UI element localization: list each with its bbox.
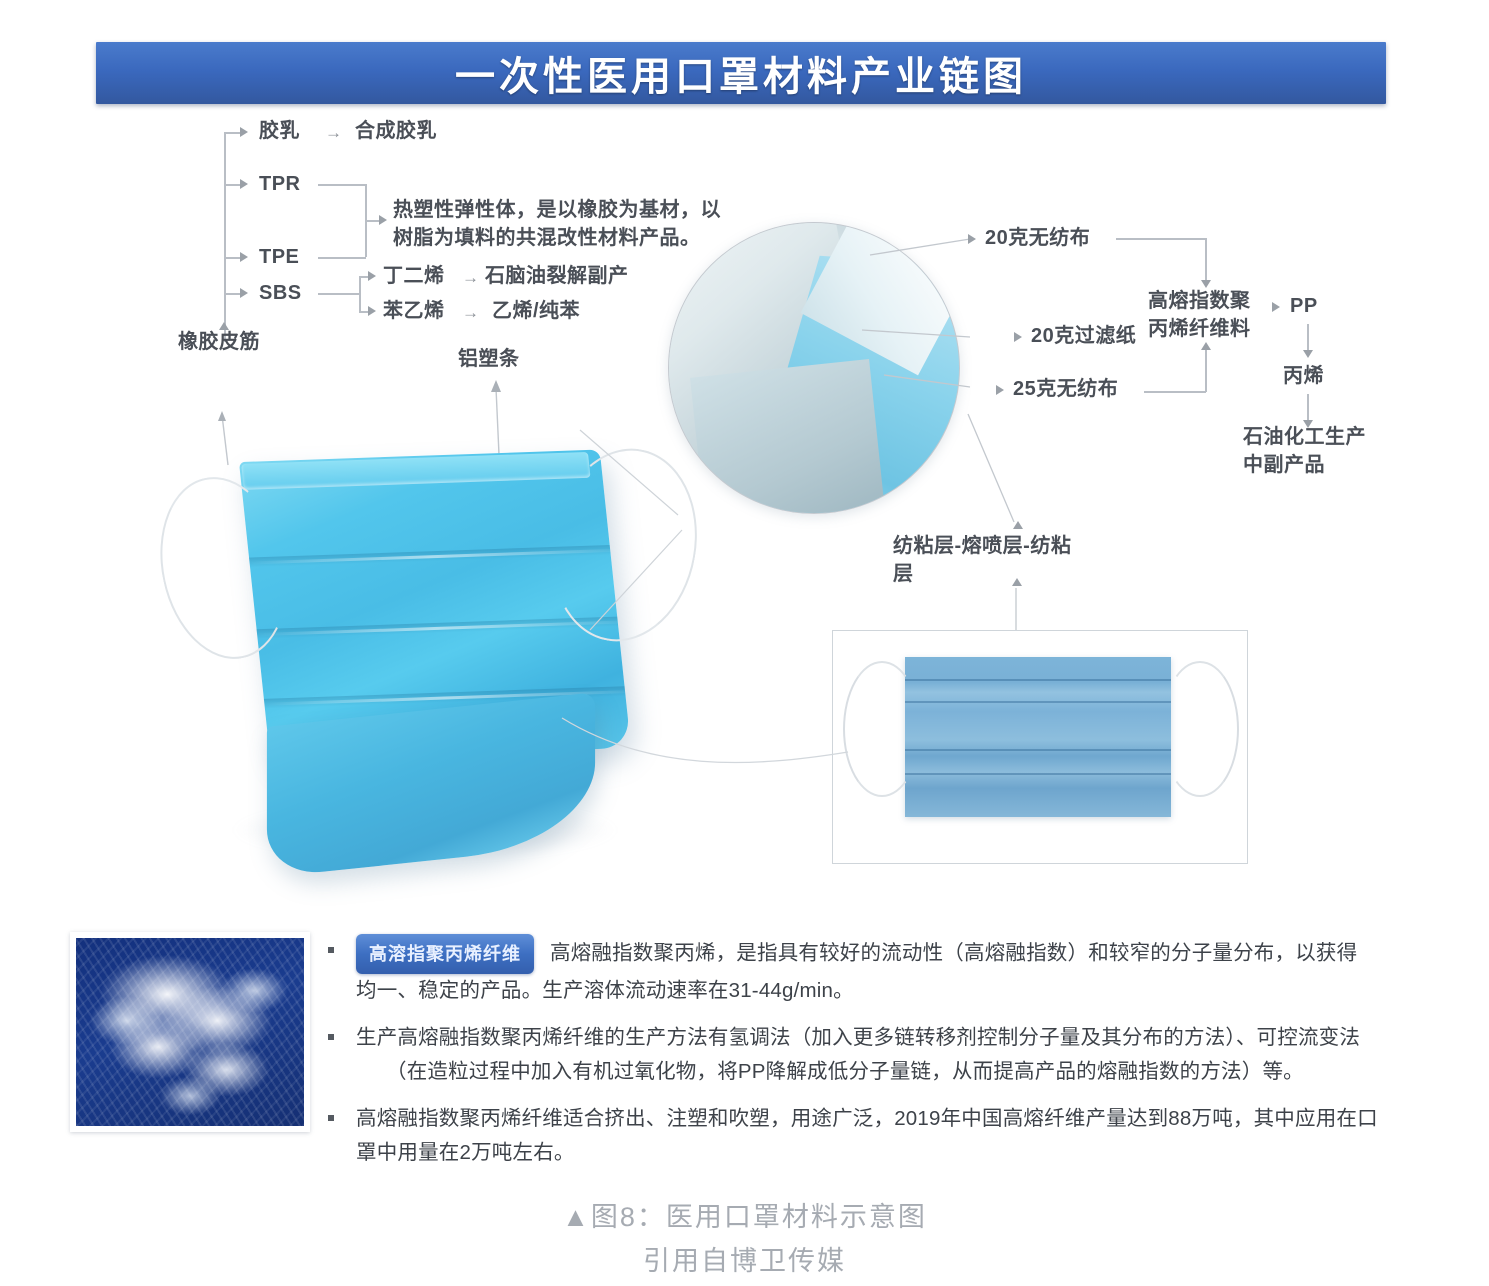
node-jiaoru: 胶乳: [259, 119, 300, 145]
arrow-to-butadiene-icon: [368, 271, 376, 281]
arrow-to-sbs-icon: [240, 288, 248, 298]
label-rubber-band: 橡胶皮筋: [178, 330, 260, 356]
bullet-text-1: 高溶指聚丙烯纤维高熔融指数聚丙烯，是指具有较好的流动性（高熔融指数）和较窄的分子…: [356, 934, 1398, 1009]
node-synthetic-latex: 合成胶乳: [355, 119, 437, 145]
flat-mask-body: [905, 657, 1171, 817]
page-title-banner: 一次性医用口罩材料产业链图: [96, 42, 1386, 104]
flat-mask-pleat-1: [905, 679, 1171, 681]
bullet-3-line-1: 高熔融指数聚丙烯纤维适合挤出、注塑和吹塑，用途广泛，2019年中国高熔纤维产量达…: [356, 1107, 1378, 1130]
page-title: 一次性医用口罩材料产业链图: [455, 44, 1027, 102]
arrow-root-up-icon: [219, 322, 229, 330]
infographic-page: 一次性医用口罩材料产业链图 胶乳 → 合成胶乳 TPR TPE SBS 热塑性弹…: [0, 0, 1489, 1286]
bullet-2-line-2: （在造粒过程中加入有机过氧化物，将PP降解成低分子量链，从而提高产品的熔融指数的…: [356, 1055, 1398, 1089]
bullet-text-2: 生产高熔融指数聚丙烯纤维的生产方法有氢调法（加入更多链转移剂控制分子量及其分布的…: [356, 1021, 1398, 1090]
node-high-melt-fiber-material: 高熔指数聚 丙烯纤维料: [1148, 288, 1251, 343]
fiber-photo: [70, 932, 310, 1132]
arrow-layer-label-up2-icon: [1012, 578, 1022, 586]
node-petrochemical-byproduct: 石油化工生产 中副产品: [1243, 424, 1366, 479]
layer1-merge-h: [1116, 238, 1206, 240]
list-item: 生产高熔融指数聚丙烯纤维的生产方法有氢调法（加入更多链转移剂控制分子量及其分布的…: [328, 1021, 1398, 1090]
list-item: 高熔融指数聚丙烯纤维适合挤出、注塑和吹塑，用途广泛，2019年中国高熔纤维产量达…: [328, 1102, 1398, 1171]
right-branch-leaders: [860, 225, 1020, 405]
node-butadiene: 丁二烯: [383, 264, 445, 290]
node-tpe: TPE: [259, 245, 299, 271]
status-badge: 高溶指聚丙烯纤维: [356, 934, 534, 974]
label-nose-strip: 铝塑条: [458, 347, 520, 373]
arrow-to-tpr-icon: [240, 179, 248, 189]
sbs-bracket-v: [359, 276, 361, 312]
bullet-1-line-2: 均一、稳定的产品。生产溶体流动速率在31-44g/min。: [356, 974, 1398, 1008]
sbs-bracket-h: [318, 293, 360, 295]
arrow-to-layer2-icon: [1014, 332, 1022, 342]
tpr-tpe-merge-h: [365, 220, 380, 222]
node-layer-20g-nonwoven: 20克无纺布: [985, 226, 1090, 252]
arrow-butadiene-to-naphtha-icon: →: [462, 268, 479, 288]
layer3-merge-h: [1144, 391, 1206, 393]
arrow-styrene-to-ethylene-icon: →: [462, 303, 479, 323]
flat-mask-ear-loop-left: [843, 661, 921, 797]
tpr-bracket-h: [318, 184, 366, 186]
list-item: 高溶指聚丙烯纤维高熔融指数聚丙烯，是指具有较好的流动性（高熔融指数）和较窄的分子…: [328, 934, 1398, 1009]
arrow-pp-down-icon: [1303, 350, 1313, 358]
magnifier-tether: [560, 380, 820, 680]
node-naphtha-byproduct: 石脑油裂解副产: [485, 264, 629, 290]
arrow-merge-up-icon: [1201, 342, 1211, 350]
node-styrene: 苯乙烯: [383, 299, 445, 325]
tpe-bracket-h: [318, 257, 366, 259]
flat-mask-inset: [832, 630, 1248, 864]
arrow-jiaoru-to-synth-icon: →: [325, 123, 342, 143]
arrow-to-styrene-icon: [368, 306, 376, 316]
bullet-marker-icon: [328, 947, 334, 953]
flat-mask-pleat-4: [905, 773, 1171, 775]
flat-mask-ear-loop-right: [1161, 661, 1239, 797]
bullet-list: 高溶指聚丙烯纤维高熔融指数聚丙烯，是指具有较好的流动性（高熔融指数）和较窄的分子…: [328, 934, 1398, 1182]
node-layer-25g-nonwoven: 25克无纺布: [1013, 377, 1118, 403]
caption-line-1: ▲图8：医用口罩材料示意图: [0, 1196, 1489, 1240]
node-layer-20g-filter: 20克过滤纸: [1031, 324, 1136, 350]
node-sbs: SBS: [259, 281, 302, 307]
mask-nose-strip: [241, 452, 590, 490]
arrow-to-pp-icon: [1272, 302, 1280, 312]
bullet-3-line-2: 罩中用量在2万吨左右。: [356, 1136, 1398, 1170]
arrow-to-layer3-icon: [996, 385, 1004, 395]
node-ethylene-benzene: 乙烯/纯苯: [492, 299, 580, 325]
node-tpr: TPR: [259, 172, 301, 198]
leader-flatmask-to-mask: [560, 700, 850, 780]
leader-layer-label-to-circle: [960, 408, 1100, 528]
figure-caption: ▲图8：医用口罩材料示意图 引用自博卫传媒: [0, 1196, 1489, 1283]
label-spunbond-meltblown-spunbond: 纺粘层-熔喷层-纺粘 层: [893, 532, 1071, 588]
bullet-1-line-1: 高熔融指数聚丙烯，是指具有较好的流动性（高熔融指数）和较窄的分子量分布，以获得: [550, 942, 1357, 965]
arrow-merge-down-icon: [1201, 280, 1211, 288]
layer1-merge-v: [1205, 238, 1207, 282]
caption-line-2: 引用自博卫传媒: [0, 1240, 1489, 1284]
bullet-marker-icon: [328, 1034, 334, 1040]
node-pp: PP: [1290, 294, 1318, 320]
propylene-to-origin-v: [1307, 394, 1309, 422]
layer3-merge-v: [1205, 350, 1207, 392]
node-propylene: 丙烯: [1283, 364, 1324, 390]
bullet-marker-icon: [328, 1115, 334, 1121]
bullet-text-3: 高熔融指数聚丙烯纤维适合挤出、注塑和吹塑，用途广泛，2019年中国高熔纤维产量达…: [356, 1102, 1398, 1171]
arrow-to-layer1-icon: [968, 234, 976, 244]
flat-mask-pleat-3: [905, 749, 1171, 751]
left-tree-spine: [224, 132, 226, 342]
arrow-to-tpe-desc-icon: [379, 215, 387, 225]
flat-mask-pleat-2: [905, 701, 1171, 703]
arrow-to-tpe-icon: [240, 252, 248, 262]
fiber-photo-image: [76, 938, 304, 1126]
pp-to-propylene-v: [1307, 324, 1309, 352]
bullet-2-line-1: 生产高熔融指数聚丙烯纤维的生产方法有氢调法（加入更多链转移剂控制分子量及其分布的…: [356, 1026, 1360, 1049]
arrow-to-jiaoru-icon: [240, 127, 248, 137]
